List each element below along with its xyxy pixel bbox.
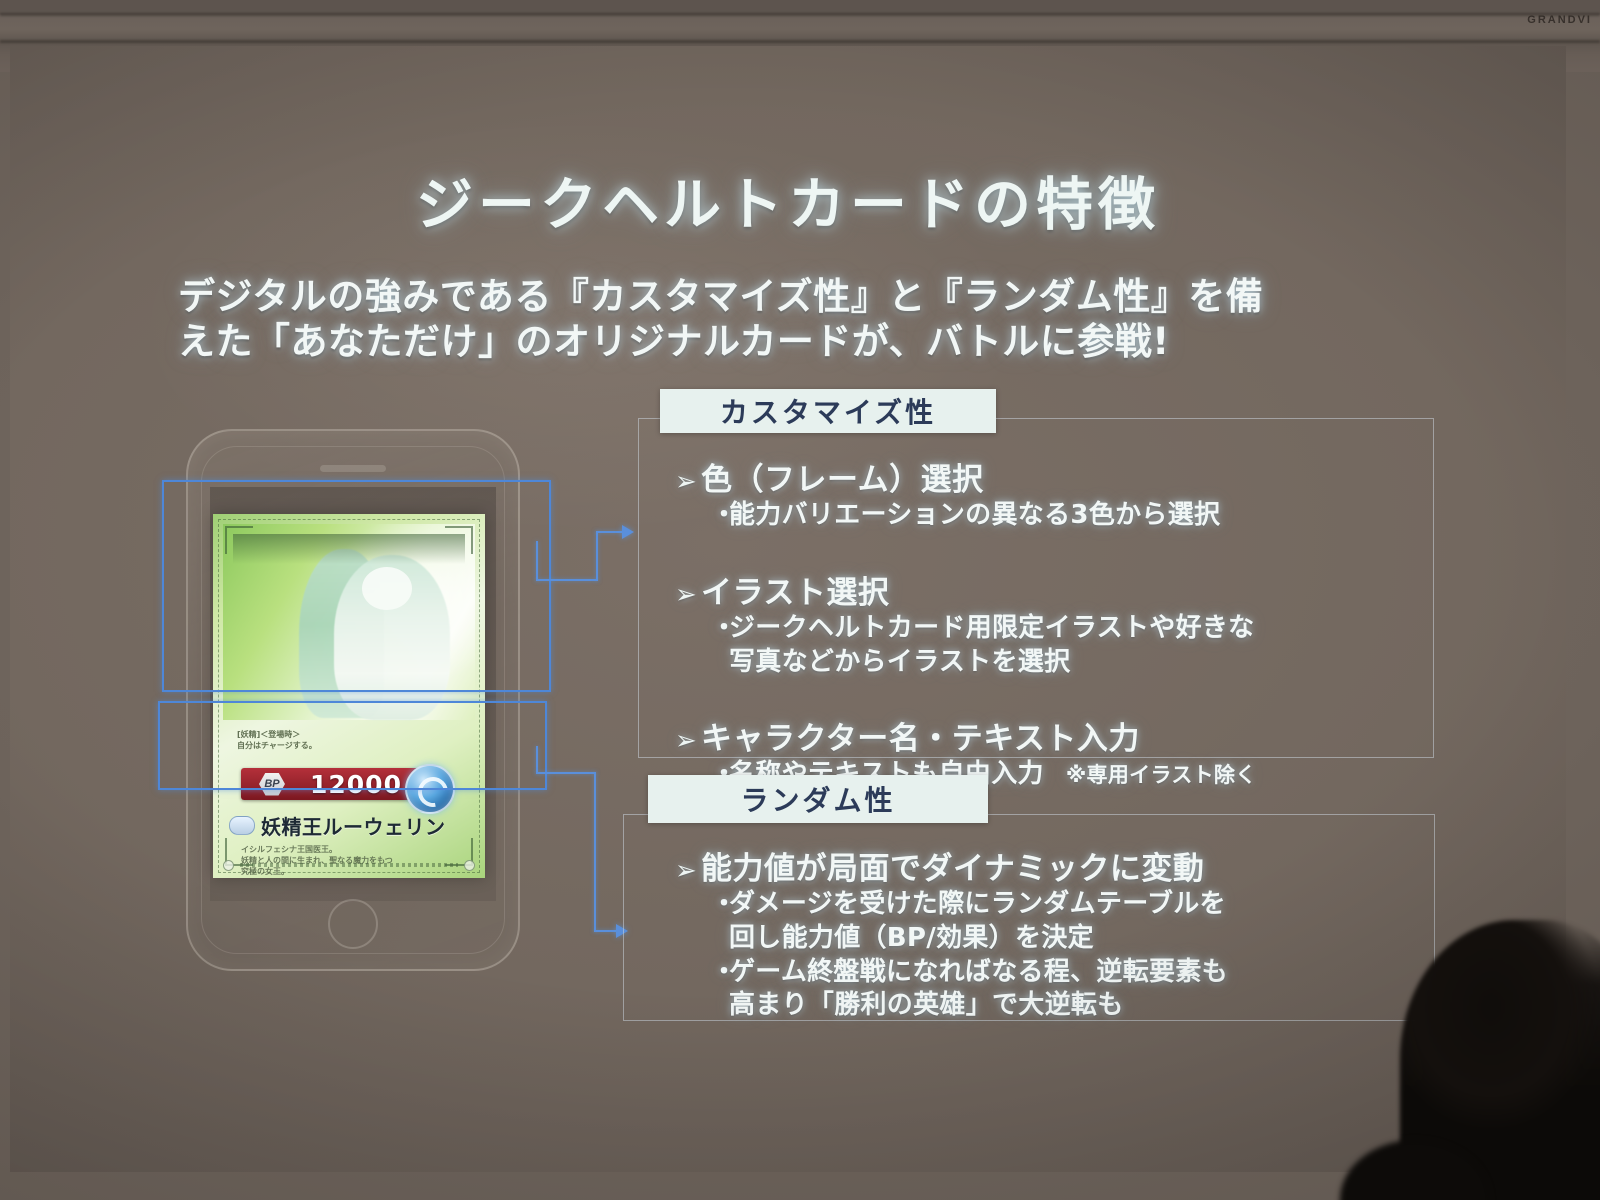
bullet-dot-icon: ・ bbox=[711, 612, 729, 646]
slide-title: ジークヘルトカードの特徴 bbox=[10, 159, 1566, 241]
card-footer-dot-right bbox=[464, 860, 475, 871]
panel-header-customization-label: カスタマイズ性 bbox=[720, 391, 936, 431]
slide-photo-stage: GRANDVI ジークヘルトカードの特徴 デジタルの強みである『カスタマイズ性』… bbox=[0, 0, 1600, 1200]
bullet-sub-comeback-cont: 高まり「勝利の英雄」で大逆転も bbox=[729, 989, 1435, 1023]
bullet-main-dynamic-stats: ➢能力値が局面でダイナミックに変動 bbox=[675, 843, 1435, 888]
bullet-sub-illustration-select-cont: 写真などからイラストを選択 bbox=[729, 646, 1435, 680]
bullet-main-name-text-input-label: キャラクター名・テキスト入力 bbox=[701, 721, 1140, 757]
highlight-box-bp-area bbox=[158, 701, 547, 790]
card-footer-bar bbox=[240, 863, 458, 867]
bullet-sub-illustration-select-label: ジークヘルトカード用限定イラストや好きな bbox=[729, 613, 1254, 643]
subtitle-line-2: えた「あなただけ」のオリジナルカードが、バトルに参戦! bbox=[178, 319, 1448, 364]
panel-header-randomness-label: ランダム性 bbox=[740, 779, 895, 819]
slide-subtitle: デジタルの強みである『カスタマイズ性』と『ランダム性』を備 えた「あなただけ」の… bbox=[178, 274, 1448, 364]
card-flavor-line-1: イシルフェシナ王国医王。 bbox=[241, 844, 465, 855]
panel-header-randomness: ランダム性 bbox=[648, 775, 988, 823]
bullet-sub-color-select: ・能力バリエーションの異なる3色から選択 bbox=[711, 499, 1435, 533]
bullet-main-color-select: ➢色（フレーム）選択 bbox=[675, 454, 1435, 499]
panel-header-customization: カスタマイズ性 bbox=[660, 389, 996, 433]
highlight-box-illustration-area bbox=[162, 480, 551, 692]
bullet-sub-random-table-cont: 回し能力値（BP/効果）を決定 bbox=[729, 922, 1435, 956]
phone-home-button bbox=[328, 899, 378, 949]
bullet-dot-icon: ・ bbox=[711, 956, 729, 990]
bullet-sub-color-select-label: 能力バリエーションの異なる3色から選択 bbox=[729, 500, 1220, 530]
bullet-main-name-text-input: ➢キャラクター名・テキスト入力 bbox=[675, 713, 1435, 758]
bullet-main-dynamic-stats-label: 能力値が局面でダイナミックに変動 bbox=[701, 851, 1204, 887]
card-character-name: 妖精王ルーウェリン bbox=[261, 811, 446, 840]
bullet-arrow-icon: ➢ bbox=[675, 580, 701, 610]
subtitle-line-1: デジタルの強みである『カスタマイズ性』と『ランダム性』を備 bbox=[178, 274, 1448, 319]
card-footer-dot-left bbox=[223, 860, 234, 871]
card-rarity-badge bbox=[229, 816, 255, 835]
bullet-sub-illustration-select: ・ジークヘルトカード用限定イラストや好きな 写真などからイラストを選択 bbox=[711, 612, 1435, 680]
bullet-group-dynamic-stats: ➢能力値が局面でダイナミックに変動 ・ダメージを受けた際にランダムテーブルを 回… bbox=[675, 843, 1435, 1023]
bullet-dot-icon: ・ bbox=[711, 888, 729, 922]
bullet-list-customization: ➢色（フレーム）選択 ・能力バリエーションの異なる3色から選択 ➢イラスト選択 … bbox=[675, 454, 1435, 792]
ceiling-edge-line-2 bbox=[0, 40, 1600, 43]
projected-slide: ジークヘルトカードの特徴 デジタルの強みである『カスタマイズ性』と『ランダム性』… bbox=[10, 46, 1566, 1172]
bullet-sub-random-table-label: ダメージを受けた際にランダムテーブルを bbox=[729, 889, 1226, 919]
bullet-main-illustration-select-label: イラスト選択 bbox=[701, 575, 889, 611]
bullet-dot-icon: ・ bbox=[711, 499, 729, 533]
bullet-sub-comeback-label: ゲーム終盤戦になればなる程、逆転要素も bbox=[729, 957, 1228, 987]
bullet-list-randomness: ➢能力値が局面でダイナミックに変動 ・ダメージを受けた際にランダムテーブルを 回… bbox=[675, 843, 1435, 1023]
bullet-group-color-select: ➢色（フレーム）選択 ・能力バリエーションの異なる3色から選択 bbox=[675, 454, 1435, 533]
bullet-main-color-select-label: 色（フレーム）選択 bbox=[701, 462, 984, 498]
bullet-arrow-icon: ➢ bbox=[675, 726, 701, 756]
bullet-sub-random-table: ・ダメージを受けた際にランダムテーブルを 回し能力値（BP/効果）を決定 bbox=[711, 888, 1435, 956]
phone-earpiece-speaker bbox=[320, 465, 386, 472]
ceiling-edge-line-1 bbox=[0, 13, 1600, 16]
bullet-group-illustration-select: ➢イラスト選択 ・ジークヘルトカード用限定イラストや好きな 写真などからイラスト… bbox=[675, 567, 1435, 680]
bullet-arrow-icon: ➢ bbox=[675, 467, 701, 497]
bullet-main-illustration-select: ➢イラスト選択 bbox=[675, 567, 1435, 612]
bullet-note-exclusive-illustration: ※専用イラスト除く bbox=[1066, 763, 1257, 787]
projector-screen-brand-label: GRANDVI bbox=[1527, 14, 1592, 26]
bullet-sub-comeback: ・ゲーム終盤戦になればなる程、逆転要素も 高まり「勝利の英雄」で大逆転も bbox=[711, 956, 1435, 1024]
card-footer-strip bbox=[223, 860, 475, 870]
bullet-arrow-icon: ➢ bbox=[675, 856, 701, 886]
card-name-row: 妖精王ルーウェリン bbox=[229, 810, 471, 840]
